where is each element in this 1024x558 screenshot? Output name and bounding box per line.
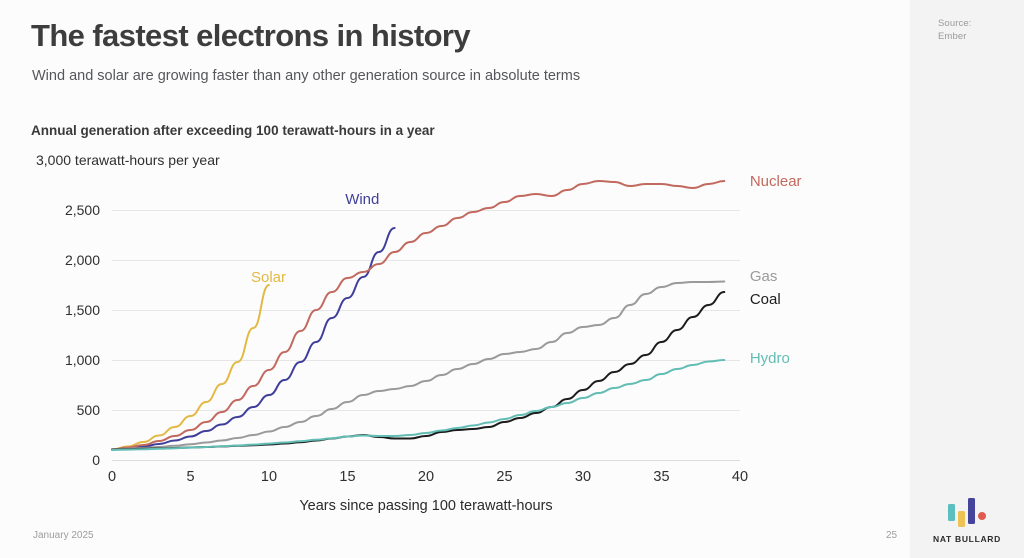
x-axis-tick: 15 [339,469,355,485]
page-title: The fastest electrons in history [31,18,470,54]
logo-bar-teal [948,504,955,521]
y-axis-tick: 0 [92,452,100,468]
logo-wordmark: NAT BULLARD [910,534,1024,544]
series-line-gas [112,282,724,450]
series-line-nuclear [112,181,724,450]
x-axis-tick: 25 [496,469,512,485]
logo-bar-navy [968,498,975,524]
y-axis-tick: 1,500 [65,302,100,318]
x-axis-tick: 20 [418,469,434,485]
x-axis-tick: 5 [186,469,194,485]
y-axis-tick: 2,500 [65,202,100,218]
footer-page-number: 25 [886,530,897,541]
source-label: Source: [938,18,971,31]
series-label-wind: Wind [345,191,379,208]
page-subtitle: Wind and solar are growing faster than a… [32,68,580,84]
chart-plot-area: 05001,0001,5002,0002,5003,000 terawatt-h… [112,160,740,460]
x-axis-tick: 35 [653,469,669,485]
y-axis-tick: 1,000 [65,352,100,368]
logo-dot-icon [978,512,986,520]
series-label-gas: Gas [750,268,778,285]
chart-x-axis-title: Years since passing 100 terawatt-hours [112,498,740,514]
series-label-coal: Coal [750,291,781,308]
source-credit: Source: Ember [938,18,971,44]
y-axis-tick: 2,000 [65,252,100,268]
logo-bar-yellow [958,511,965,527]
brand-logo: NAT BULLARD [910,497,1024,544]
series-label-hydro: Hydro [750,350,790,367]
x-axis-tick: 30 [575,469,591,485]
series-line-solar [112,285,269,450]
y-axis-tick: 500 [77,402,100,418]
footer-date: January 2025 [33,530,94,541]
source-name: Ember [938,31,971,44]
chart-heading: Annual generation after exceeding 100 te… [31,123,435,138]
chart-series-lines [112,160,740,460]
slide-root: The fastest electrons in history Wind an… [0,0,1024,558]
slide-main-area: The fastest electrons in history Wind an… [0,0,910,558]
slide-sidebar: Source: Ember NAT BULLARD [910,0,1024,558]
series-line-coal [112,292,724,450]
series-label-solar: Solar [251,269,286,286]
x-axis-tick: 40 [732,469,748,485]
gridline [112,460,740,461]
x-axis-tick: 0 [108,469,116,485]
logo-bars-icon [910,497,1024,527]
series-line-wind [112,228,395,450]
series-label-nuclear: Nuclear [750,173,802,190]
x-axis-tick: 10 [261,469,277,485]
